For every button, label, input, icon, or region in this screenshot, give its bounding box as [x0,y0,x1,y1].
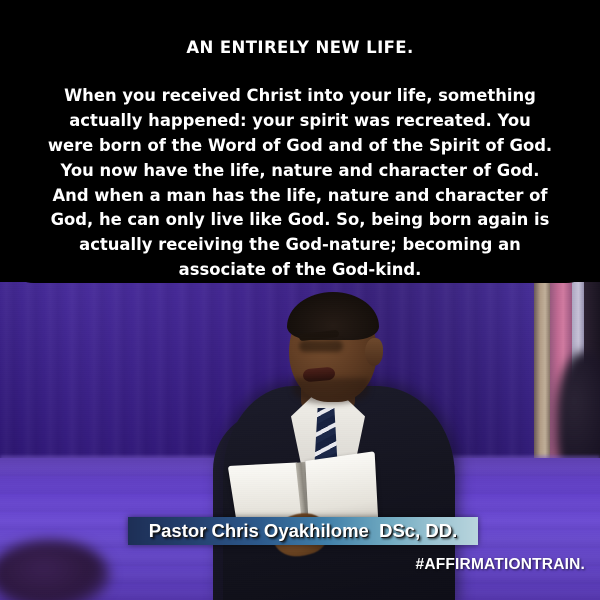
speaker-name-label: Pastor Chris Oyakhilome DSc, DD. [128,517,478,545]
speaker-eye [299,340,343,352]
speaker-jaw-shadow [293,378,369,404]
quote-card: AN ENTIRELY NEW LIFE. When you received … [0,0,600,600]
speaker-photo [0,282,600,600]
speaker-name-banner: Pastor Chris Oyakhilome DSc, DD. [128,517,478,545]
hashtag-label: #AFFIRMATIONTRAIN. [416,556,586,574]
quote-title: AN ENTIRELY NEW LIFE. [0,0,600,58]
quote-body-text: When you received Christ into your life,… [0,58,600,284]
quote-text-panel: AN ENTIRELY NEW LIFE. When you received … [0,0,600,283]
stage-pillar-tan [534,282,550,462]
speaker-figure [215,282,465,600]
speaker-ear [365,338,383,366]
